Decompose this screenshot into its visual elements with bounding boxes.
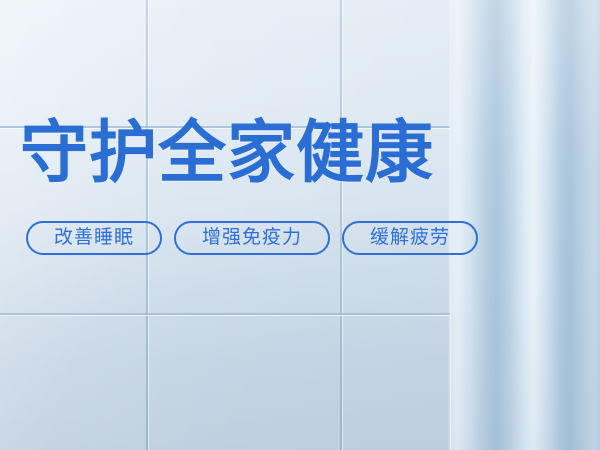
banner-content: 守护全家健康 改善睡眠 增强免疫力 缓解疲劳 [0,0,600,450]
feature-tag-improve-sleep[interactable]: 改善睡眠 [26,221,162,255]
promo-banner: 守护全家健康 改善睡眠 增强免疫力 缓解疲劳 [0,0,600,450]
headline-text: 守护全家健康 [20,119,434,187]
feature-tag-row: 改善睡眠 增强免疫力 缓解疲劳 [26,221,478,255]
feature-tag-boost-immunity[interactable]: 增强免疫力 [174,221,330,255]
feature-tag-relieve-fatigue[interactable]: 缓解疲劳 [342,221,478,255]
